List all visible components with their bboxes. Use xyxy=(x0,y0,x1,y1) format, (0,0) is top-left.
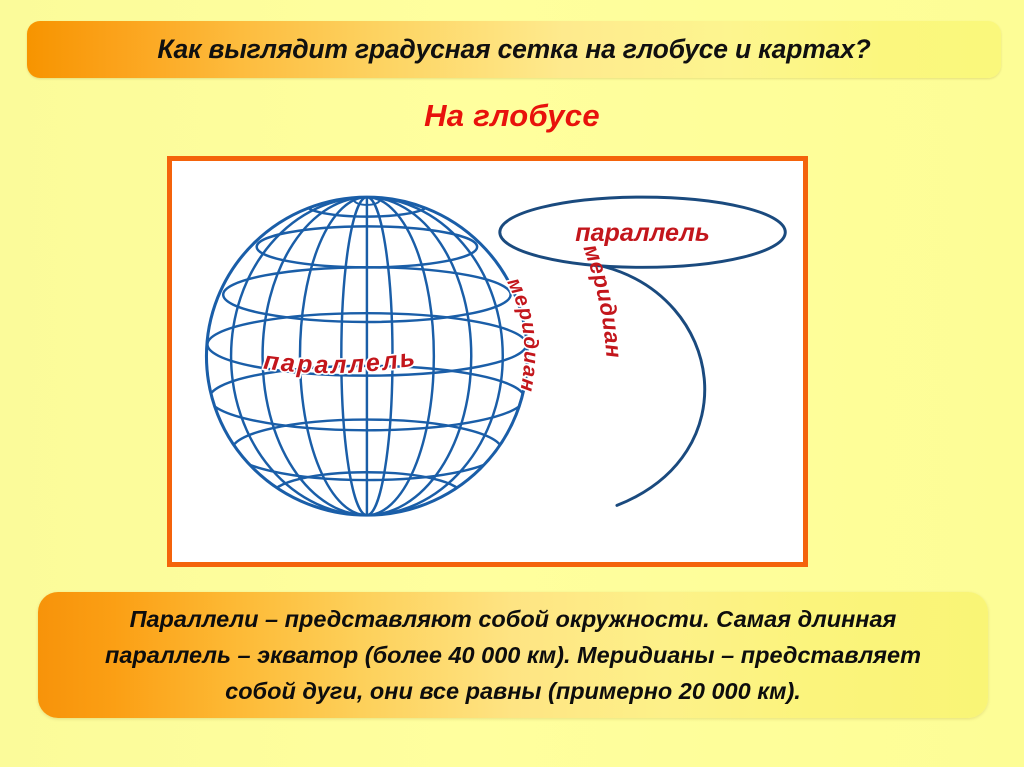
title-banner: Как выглядит градусная сетка на глобусе … xyxy=(27,21,1001,78)
parallel-ellipse-label: параллель xyxy=(575,219,710,247)
page-title: Как выглядит градусная сетка на глобусе … xyxy=(157,34,870,65)
meridian-arc-figure: меридиан xyxy=(579,241,705,505)
illustration-panel: параллель меридиан параллель меридиан xyxy=(167,156,808,567)
description-text: Параллели – представляют собой окружност… xyxy=(105,601,921,709)
subtitle-heading: На глобусе xyxy=(0,98,1024,134)
description-line-2: параллель – экватор (более 40 000 км). М… xyxy=(105,642,921,668)
parallel-ellipse-figure: параллель xyxy=(500,197,785,267)
description-line-1: Параллели – представляют собой окружност… xyxy=(130,606,897,632)
slide-canvas: Как выглядит градусная сетка на глобусе … xyxy=(0,0,1024,767)
wireframe-globe: параллель меридиан xyxy=(206,193,542,517)
meridian-arc-label: меридиан xyxy=(579,241,627,359)
description-box: Параллели – представляют собой окружност… xyxy=(38,592,988,718)
globe-diagram-svg: параллель меридиан параллель меридиан xyxy=(172,161,803,562)
description-line-3: собой дуги, они все равны (примерно 20 0… xyxy=(225,678,801,704)
